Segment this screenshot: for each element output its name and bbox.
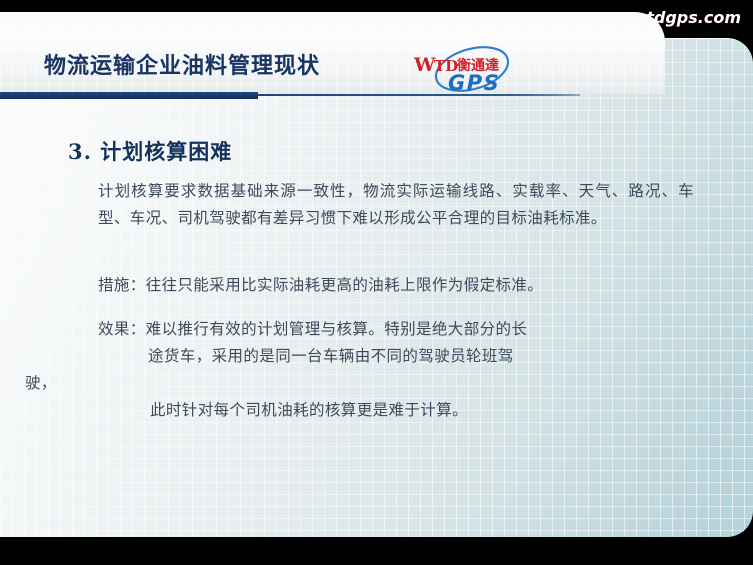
paragraph-effect: 效果：难以推行有效的计划管理与核算。特别是绝大部分的长 途货车，采用的是同一台车…	[98, 316, 698, 370]
paragraph-effect-continued: 驶， 此时针对每个司机油耗的核算更是难于计算。	[25, 370, 725, 424]
bottom-black-strip	[0, 537, 753, 565]
header-separator-thin-overlay	[258, 94, 580, 96]
logo-gps-text: GPS	[448, 71, 500, 94]
paragraph-effect-line1: 效果：难以推行有效的计划管理与核算。特别是绝大部分的长	[98, 320, 527, 338]
paragraph-effect-line3: 驶，	[25, 374, 57, 392]
header-separator-thick-overlay	[0, 92, 258, 99]
paragraph-measure: 措施：往往只能采用比实际油耗更高的油耗上限作为假定标准。	[98, 272, 698, 299]
logo-artwork-overlay: W TD 衡通達 GPS	[412, 44, 542, 94]
slide-content: 3. 计划核算困难 计划核算要求数据基础来源一致性，物流实际运输线路、实载率、天…	[0, 120, 753, 520]
paragraph-effect-line2: 途货车，采用的是同一台车辆由不同的驾驶员轮班驾	[98, 343, 698, 370]
section-heading: 3. 计划核算困难	[68, 136, 232, 166]
logo-wtd-text: W	[413, 54, 436, 76]
page-title-overlay: 物流运输企业油料管理现状	[44, 48, 320, 80]
wtd-gps-logo-overlay: W TD 衡通達 GPS	[412, 44, 542, 94]
slide-canvas: 物流运输企业油料管理现状 W TD 衡通達 GPS www.wtdgps.com…	[0, 0, 753, 565]
paragraph-overview: 计划核算要求数据基础来源一致性，物流实际运输线路、实载率、天气、路况、车型、车况…	[98, 178, 694, 232]
paragraph-effect-line4: 此时针对每个司机油耗的核算更是难于计算。	[25, 397, 725, 424]
